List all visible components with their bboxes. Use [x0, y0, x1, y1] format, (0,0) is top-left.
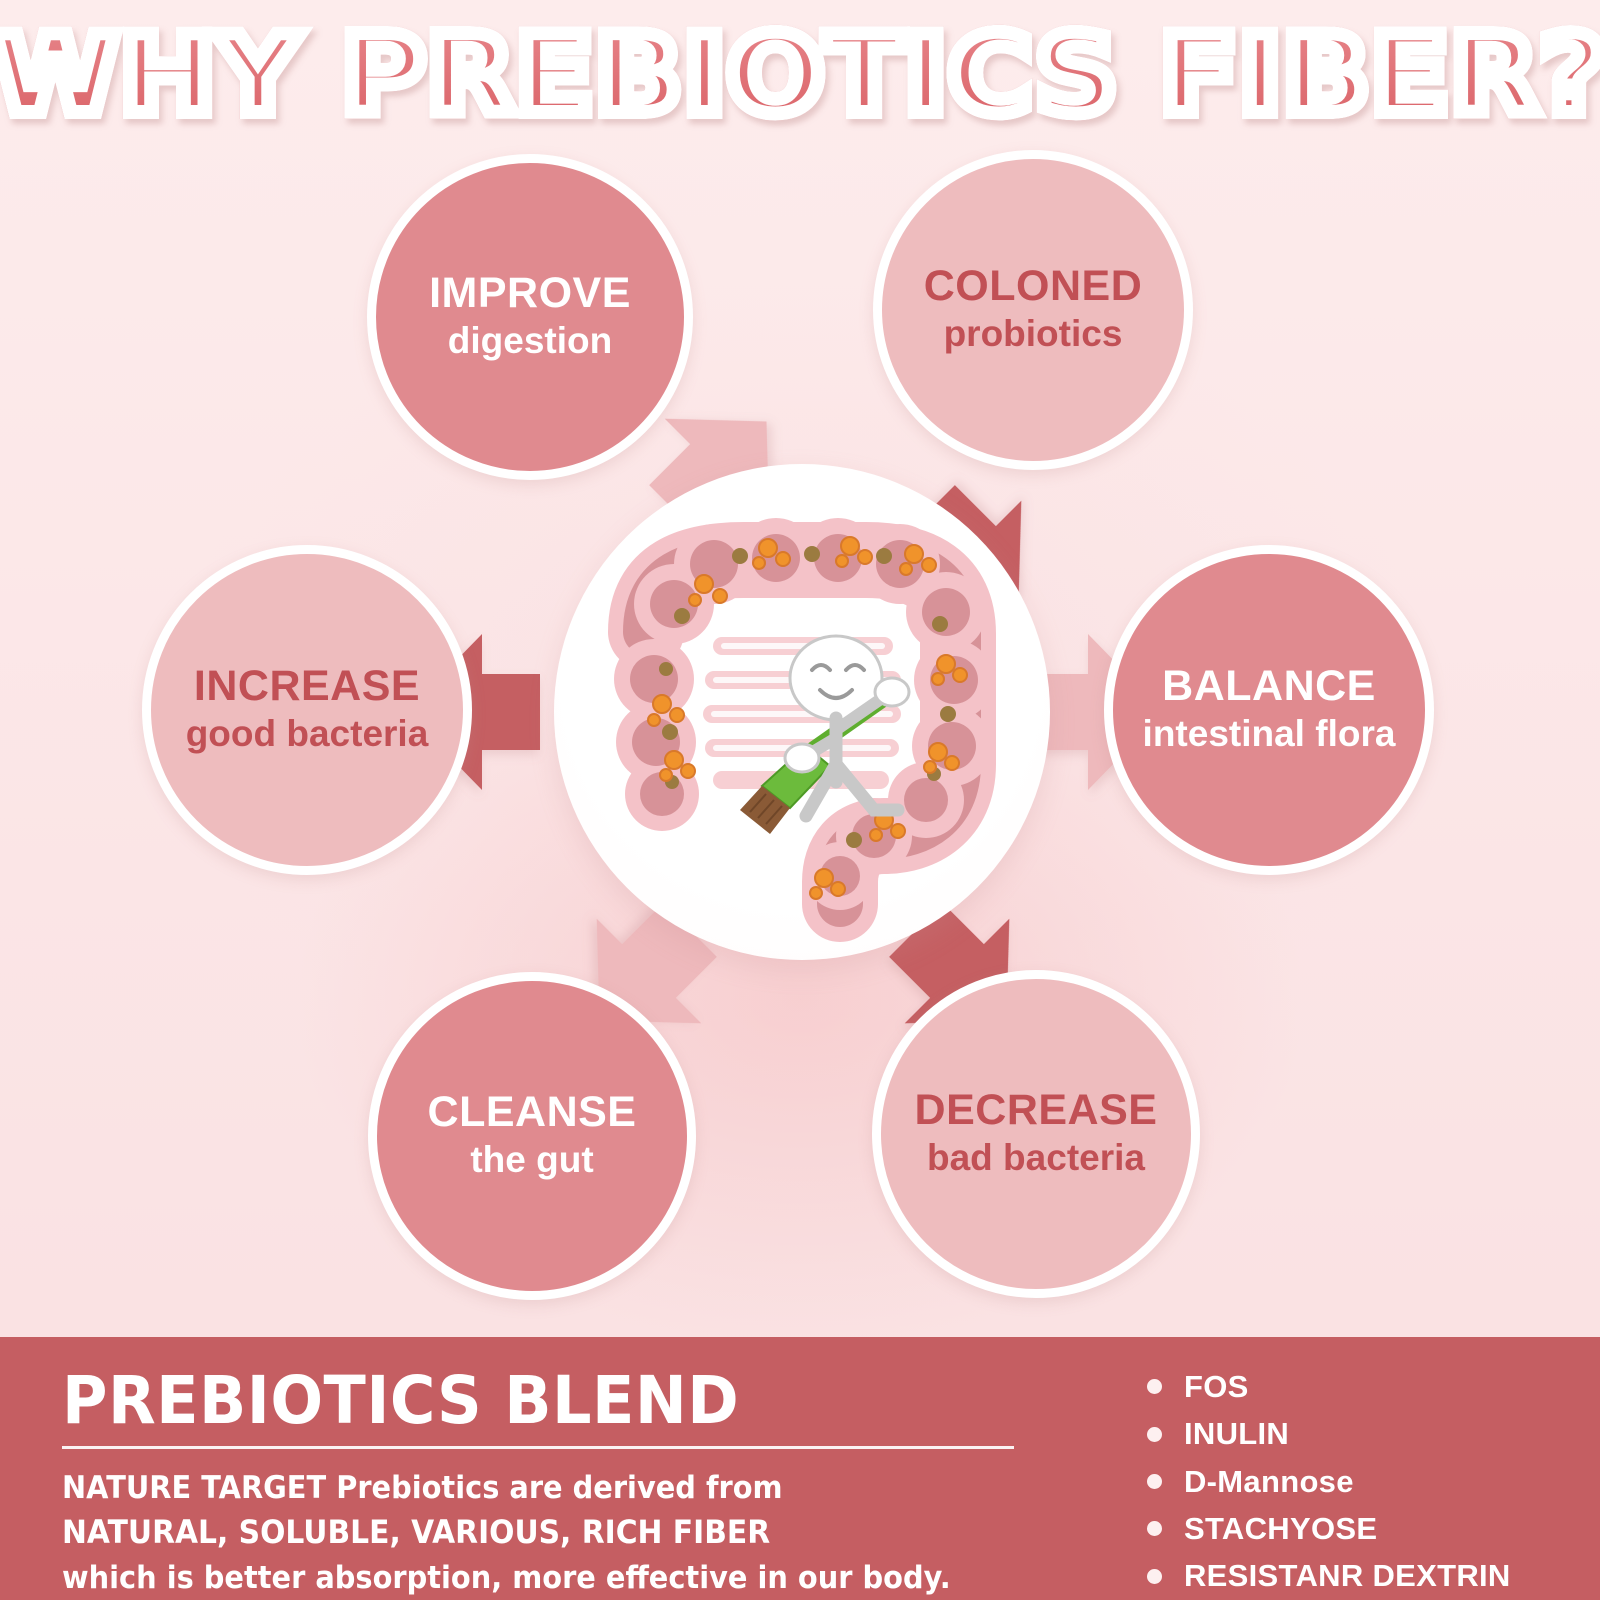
benefit-subline: bad bacteria	[927, 1136, 1145, 1180]
list-item: FOS	[1105, 1363, 1600, 1410]
ingredient-label: RESISTANR DEXTRIN	[1184, 1558, 1511, 1594]
benefit-node-balance[interactable]: BALANCE intestinal flora	[1104, 545, 1434, 875]
benefit-headline: DECREASE	[915, 1089, 1158, 1133]
list-item: STACHYOSE	[1105, 1505, 1600, 1552]
banner-line-1: NATURE TARGET Prebiotics are derived fro…	[62, 1466, 1032, 1510]
bullet-icon	[1147, 1521, 1162, 1536]
banner-line-2: NATURAL, SOLUBLE, VARIOUS, RICH FIBER	[62, 1510, 1032, 1555]
list-item: D-Mannose	[1105, 1458, 1600, 1505]
prebiotics-blend-banner: PREBIOTICS BLEND NATURE TARGET Prebiotic…	[0, 1337, 1600, 1600]
benefit-subline: the gut	[470, 1138, 593, 1182]
benefit-node-decrease[interactable]: DECREASE bad bacteria	[872, 970, 1200, 1298]
benefit-headline: INCREASE	[194, 665, 420, 709]
benefit-subline: intestinal flora	[1143, 712, 1396, 756]
banner-divider	[62, 1446, 1014, 1449]
bullet-icon	[1147, 1474, 1162, 1489]
benefit-headline: COLONED	[924, 265, 1143, 309]
center-illustration-disc	[554, 464, 1050, 960]
benefit-node-coloned[interactable]: COLONED probiotics	[873, 150, 1193, 470]
benefits-diagram: IMPROVE digestion COLONED probiotics INC…	[0, 0, 1600, 1340]
benefit-node-improve[interactable]: IMPROVE digestion	[367, 154, 693, 480]
benefit-node-increase[interactable]: INCREASE good bacteria	[142, 545, 472, 875]
benefit-node-cleanse[interactable]: CLEANSE the gut	[368, 972, 696, 1300]
bullet-icon	[1147, 1569, 1162, 1584]
benefit-headline: IMPROVE	[429, 272, 631, 316]
ingredient-label: INULIN	[1184, 1416, 1289, 1452]
benefit-headline: CLEANSE	[428, 1091, 637, 1135]
colon-cleaning-icon	[554, 464, 1050, 960]
benefit-subline: good bacteria	[186, 712, 429, 756]
banner-title: PREBIOTICS BLEND	[62, 1367, 1042, 1434]
benefit-subline: probiotics	[944, 312, 1123, 356]
benefit-headline: BALANCE	[1162, 665, 1376, 709]
list-item: RESISTANR DEXTRIN	[1105, 1553, 1600, 1600]
benefit-subline: digestion	[448, 319, 612, 363]
ingredient-label: D-Mannose	[1184, 1464, 1354, 1500]
banner-line-3: which is better absorption, more effecti…	[62, 1556, 1032, 1600]
banner-left-column: PREBIOTICS BLEND NATURE TARGET Prebiotic…	[0, 1337, 1105, 1600]
ingredient-label: FOS	[1184, 1369, 1249, 1405]
list-item: INULIN	[1105, 1410, 1600, 1457]
ingredients-list: FOS INULIN D-Mannose STACHYOSE RESISTANR…	[1105, 1337, 1600, 1600]
ingredient-label: STACHYOSE	[1184, 1511, 1377, 1547]
bullet-icon	[1147, 1427, 1162, 1442]
bullet-icon	[1147, 1379, 1162, 1394]
